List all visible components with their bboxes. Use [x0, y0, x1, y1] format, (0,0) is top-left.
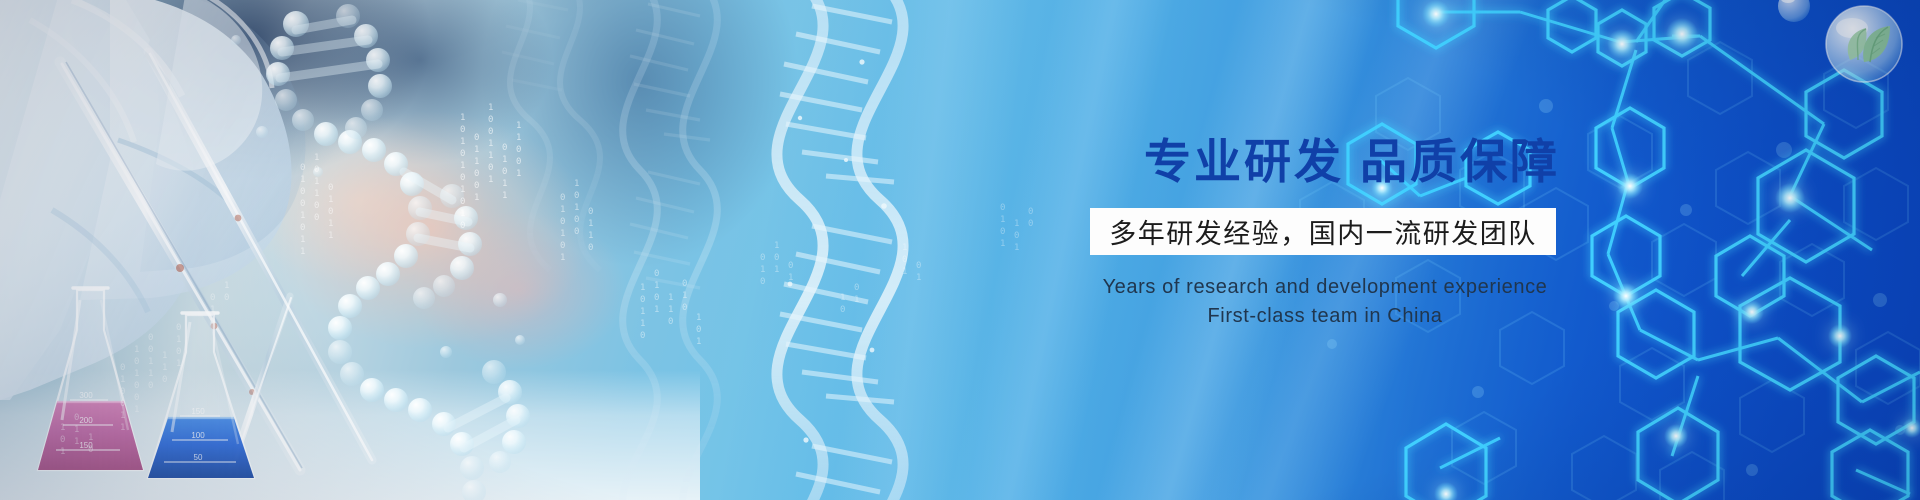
svg-text:0: 0 — [460, 221, 465, 231]
svg-text:0: 0 — [574, 191, 579, 201]
svg-text:1: 1 — [314, 189, 319, 199]
svg-text:1: 1 — [314, 153, 319, 163]
svg-text:1: 1 — [640, 283, 645, 293]
svg-text:0: 0 — [668, 317, 673, 327]
svg-text:0: 0 — [300, 199, 305, 209]
svg-text:0: 0 — [460, 149, 465, 159]
svg-text:1: 1 — [1000, 239, 1005, 249]
svg-text:1: 1 — [668, 305, 673, 315]
svg-text:1: 1 — [654, 281, 659, 291]
lab-coat-figure — [0, 0, 305, 400]
svg-text:1: 1 — [488, 151, 493, 161]
svg-text:0: 0 — [210, 317, 215, 327]
svg-text:0: 0 — [788, 261, 793, 271]
svg-text:0: 0 — [300, 163, 305, 173]
svg-text:1: 1 — [902, 267, 907, 277]
svg-text:0: 0 — [488, 115, 493, 125]
svg-text:1: 1 — [300, 211, 305, 221]
svg-text:0: 0 — [588, 207, 593, 217]
dna-helix-front — [777, 0, 903, 500]
svg-text:1: 1 — [516, 133, 521, 143]
banner-subtitle: 多年研发经验，国内一流研发团队 — [1109, 212, 1537, 251]
svg-text:1: 1 — [654, 305, 659, 315]
svg-text:0: 0 — [696, 325, 701, 335]
svg-text:1: 1 — [460, 113, 465, 123]
svg-text:1: 1 — [300, 175, 305, 185]
svg-text:1: 1 — [460, 185, 465, 195]
svg-text:0: 0 — [224, 293, 229, 303]
svg-text:1: 1 — [502, 155, 507, 165]
svg-text:0: 0 — [840, 305, 845, 315]
svg-text:0: 0 — [654, 293, 659, 303]
svg-text:1: 1 — [696, 337, 701, 347]
svg-text:0: 0 — [516, 145, 521, 155]
svg-text:0: 0 — [774, 253, 779, 263]
english-line-1: Years of research and development experi… — [1082, 273, 1568, 302]
svg-text:0: 0 — [300, 223, 305, 233]
small-bubble-icon — [1778, 0, 1810, 22]
svg-text:0: 0 — [314, 213, 319, 223]
svg-text:1: 1 — [176, 335, 181, 345]
svg-text:1: 1 — [328, 195, 333, 205]
svg-text:0: 0 — [488, 163, 493, 173]
svg-text:0: 0 — [176, 347, 181, 357]
svg-text:0: 0 — [1014, 231, 1019, 241]
lab-table-surface — [0, 370, 700, 500]
svg-text:0: 0 — [760, 253, 765, 263]
svg-text:1: 1 — [314, 177, 319, 187]
svg-text:0: 0 — [474, 133, 479, 143]
svg-text:1: 1 — [502, 191, 507, 201]
svg-text:1: 1 — [574, 179, 579, 189]
svg-text:1: 1 — [488, 175, 493, 185]
subtitle-highlight-box: 多年研发经验，国内一流研发团队 — [1090, 208, 1556, 255]
svg-text:0: 0 — [300, 187, 305, 197]
svg-text:1: 1 — [210, 305, 215, 315]
svg-text:1: 1 — [488, 103, 493, 113]
svg-text:1: 1 — [1014, 243, 1019, 253]
svg-text:0: 0 — [916, 261, 921, 271]
english-tagline: Years of research and development experi… — [1082, 273, 1568, 331]
svg-text:0: 0 — [210, 293, 215, 303]
svg-text:1: 1 — [162, 351, 167, 361]
svg-text:0: 0 — [516, 157, 521, 167]
svg-text:0: 0 — [574, 227, 579, 237]
svg-text:1: 1 — [560, 253, 565, 263]
svg-text:1: 1 — [474, 193, 479, 203]
svg-text:1: 1 — [560, 229, 565, 239]
svg-text:1: 1 — [640, 307, 645, 317]
svg-text:1: 1 — [902, 243, 907, 253]
dna-helix-upper — [502, 0, 600, 270]
svg-text:1: 1 — [460, 137, 465, 147]
svg-text:0: 0 — [1000, 227, 1005, 237]
svg-text:1: 1 — [460, 209, 465, 219]
svg-text:1: 1 — [854, 295, 859, 305]
svg-text:1: 1 — [774, 241, 779, 251]
svg-text:0: 0 — [460, 197, 465, 207]
svg-text:1: 1 — [668, 293, 673, 303]
svg-text:0: 0 — [502, 167, 507, 177]
hero-banner: 300 200 150 150 100 50 — [0, 0, 1920, 500]
svg-text:1: 1 — [148, 357, 153, 367]
svg-text:1: 1 — [328, 219, 333, 229]
svg-text:0: 0 — [854, 283, 859, 293]
svg-text:1: 1 — [774, 265, 779, 275]
svg-text:1: 1 — [474, 157, 479, 167]
svg-text:1: 1 — [574, 203, 579, 213]
svg-text:1: 1 — [488, 139, 493, 149]
svg-text:0: 0 — [314, 165, 319, 175]
banner-text-block: 专业研发 品质保障 多年研发经验，国内一流研发团队 Years of resea… — [1080, 136, 1600, 331]
svg-text:0: 0 — [682, 279, 687, 289]
svg-text:1: 1 — [640, 319, 645, 329]
svg-text:0: 0 — [460, 173, 465, 183]
svg-text:1: 1 — [328, 231, 333, 241]
svg-text:1: 1 — [560, 205, 565, 215]
svg-text:1: 1 — [516, 169, 521, 179]
svg-text:0: 0 — [148, 333, 153, 343]
svg-text:0: 0 — [328, 183, 333, 193]
svg-text:0: 0 — [588, 243, 593, 253]
svg-text:0: 0 — [176, 323, 181, 333]
svg-text:1: 1 — [300, 247, 305, 257]
svg-text:1: 1 — [788, 273, 793, 283]
svg-text:1: 1 — [696, 313, 701, 323]
svg-text:0: 0 — [640, 295, 645, 305]
svg-text:1: 1 — [588, 231, 593, 241]
svg-text:0: 0 — [760, 277, 765, 287]
svg-text:1: 1 — [1000, 215, 1005, 225]
svg-text:0: 0 — [1000, 203, 1005, 213]
banner-headline: 专业研发 品质保障 — [1104, 136, 1600, 189]
leaf-icon — [1848, 26, 1890, 62]
svg-text:0: 0 — [134, 357, 139, 367]
svg-text:1: 1 — [760, 265, 765, 275]
svg-text:1: 1 — [516, 121, 521, 131]
svg-text:0: 0 — [328, 207, 333, 217]
svg-text:1: 1 — [134, 345, 139, 355]
svg-text:1: 1 — [502, 179, 507, 189]
english-line-2: First-class team in China — [1082, 302, 1568, 331]
svg-text:1: 1 — [474, 145, 479, 155]
svg-text:1: 1 — [840, 293, 845, 303]
svg-text:0: 0 — [560, 241, 565, 251]
svg-text:0: 0 — [148, 345, 153, 355]
svg-text:0: 0 — [502, 143, 507, 153]
svg-text:1: 1 — [1014, 219, 1019, 229]
svg-text:0: 0 — [460, 125, 465, 135]
svg-text:0: 0 — [902, 255, 907, 265]
leaf-bubble-icon — [1826, 6, 1902, 82]
svg-text:0: 0 — [488, 127, 493, 137]
svg-text:1: 1 — [588, 219, 593, 229]
svg-text:0: 0 — [682, 303, 687, 313]
svg-text:0: 0 — [560, 217, 565, 227]
svg-text:0: 0 — [474, 181, 479, 191]
svg-text:1: 1 — [916, 273, 921, 283]
svg-text:0: 0 — [574, 215, 579, 225]
svg-text:1: 1 — [460, 161, 465, 171]
svg-text:0: 0 — [1028, 219, 1033, 229]
svg-text:1: 1 — [300, 235, 305, 245]
svg-text:1: 1 — [224, 281, 229, 291]
svg-text:0: 0 — [1028, 207, 1033, 217]
svg-text:0: 0 — [560, 193, 565, 203]
svg-text:0: 0 — [640, 331, 645, 341]
svg-text:1: 1 — [176, 359, 181, 369]
svg-text:1: 1 — [682, 291, 687, 301]
svg-text:0: 0 — [474, 169, 479, 179]
svg-text:0: 0 — [654, 269, 659, 279]
svg-text:0: 0 — [314, 201, 319, 211]
